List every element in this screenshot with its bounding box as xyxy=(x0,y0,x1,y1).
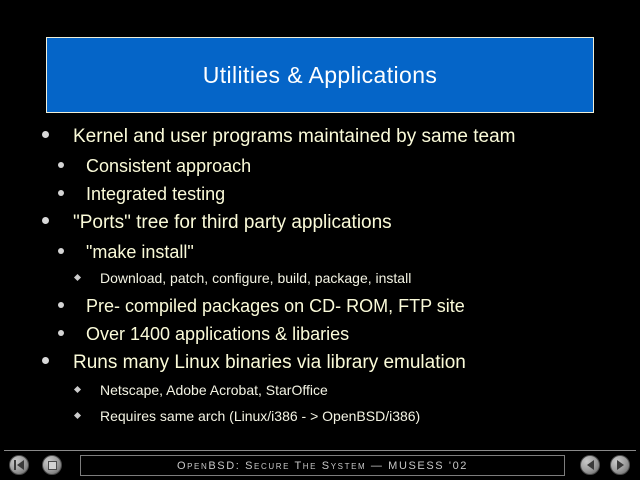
next-slide-button[interactable] xyxy=(610,455,630,475)
chevron-left-icon xyxy=(587,460,594,470)
disc-bullet-icon xyxy=(42,215,73,233)
bullet-text: "make install" xyxy=(86,242,194,263)
bullet-text: Pre- compiled packages on CD- ROM, FTP s… xyxy=(86,296,465,317)
disc-bullet-icon xyxy=(58,299,86,317)
bullet-item: Runs many Linux binaries via library emu… xyxy=(0,352,640,382)
disc-bullet-icon xyxy=(58,187,86,205)
slide-bullet-list: Kernel and user programs maintained by s… xyxy=(0,126,640,434)
slide-footer: OpenBSD: Secure The System — MUSESS '02 xyxy=(0,452,640,480)
bullet-text: Consistent approach xyxy=(86,156,251,177)
disc-bullet-icon xyxy=(58,327,86,345)
stop-button[interactable] xyxy=(42,455,62,475)
bullet-item: Download, patch, configure, build, packa… xyxy=(0,270,640,296)
bullet-item: "make install" xyxy=(0,242,640,270)
bullet-text: Netscape, Adobe Acrobat, StarOffice xyxy=(100,382,328,398)
presentation-title: OpenBSD: Secure The System — MUSESS '02 xyxy=(177,460,468,472)
bullet-text: "Ports" tree for third party application… xyxy=(73,212,392,234)
disc-bullet-icon xyxy=(42,355,73,373)
slide-title-banner: Utilities & Applications xyxy=(46,37,594,113)
bullet-text: Download, patch, configure, build, packa… xyxy=(100,270,411,286)
disc-bullet-icon xyxy=(42,129,73,147)
diamond-bullet-icon xyxy=(75,382,100,400)
stop-square-icon xyxy=(48,461,57,470)
bullet-item: Consistent approach xyxy=(0,156,640,184)
footer-title-box: OpenBSD: Secure The System — MUSESS '02 xyxy=(80,455,565,476)
bullet-item: Integrated testing xyxy=(0,184,640,212)
bullet-item: Kernel and user programs maintained by s… xyxy=(0,126,640,156)
skip-to-start-icon xyxy=(14,460,24,470)
bullet-text: Over 1400 applications & libaries xyxy=(86,324,349,345)
disc-bullet-icon xyxy=(58,245,86,263)
footer-divider xyxy=(4,450,636,451)
bullet-text: Runs many Linux binaries via library emu… xyxy=(73,352,466,374)
first-slide-button[interactable] xyxy=(9,455,29,475)
diamond-bullet-icon xyxy=(75,408,100,426)
previous-slide-button[interactable] xyxy=(580,455,600,475)
bullet-item: "Ports" tree for third party application… xyxy=(0,212,640,242)
bullet-text: Kernel and user programs maintained by s… xyxy=(73,126,516,148)
bullet-text: Integrated testing xyxy=(86,184,225,205)
bullet-item: Netscape, Adobe Acrobat, StarOffice xyxy=(0,382,640,408)
bullet-item: Pre- compiled packages on CD- ROM, FTP s… xyxy=(0,296,640,324)
disc-bullet-icon xyxy=(58,159,86,177)
page-title: Utilities & Applications xyxy=(203,62,438,89)
diamond-bullet-icon xyxy=(75,270,100,288)
bullet-item: Over 1400 applications & libaries xyxy=(0,324,640,352)
bullet-text: Requires same arch (Linux/i386 - > OpenB… xyxy=(100,408,420,424)
presentation-slide: Utilities & Applications Kernel and user… xyxy=(0,0,640,480)
bullet-item: Requires same arch (Linux/i386 - > OpenB… xyxy=(0,408,640,434)
chevron-right-icon xyxy=(617,460,624,470)
